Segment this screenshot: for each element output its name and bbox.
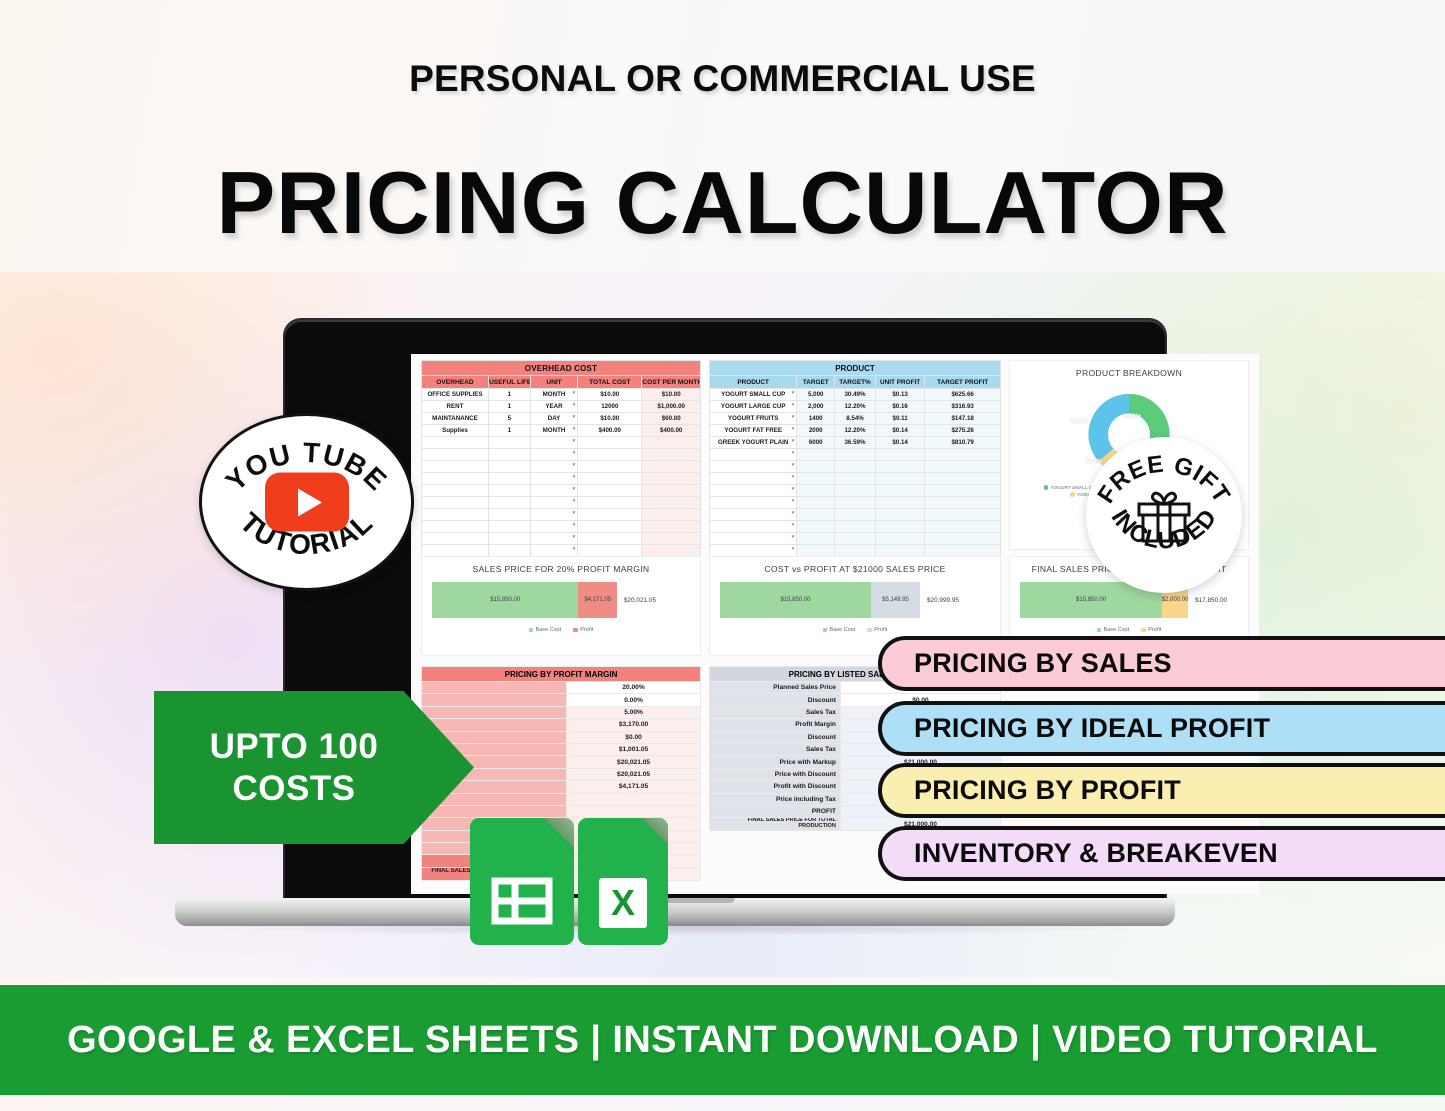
cell[interactable] xyxy=(578,533,642,545)
product-col-2: TARGET% xyxy=(835,376,876,389)
overhead-caption: OVERHEAD COST xyxy=(422,361,701,376)
legend-swatch-icon xyxy=(823,628,828,633)
cell[interactable] xyxy=(710,473,797,485)
row-value[interactable]: 0.00% xyxy=(567,694,701,706)
cell[interactable] xyxy=(642,533,701,545)
legend-swatch-icon xyxy=(573,628,578,633)
cell[interactable]: OFFICE SUPPLIES xyxy=(422,389,489,401)
cell[interactable]: 36.59% xyxy=(835,437,876,449)
row-value[interactable]: $3,170.00 xyxy=(567,719,701,731)
cell[interactable]: 2000 xyxy=(797,425,835,437)
youtube-tutorial-badge[interactable]: YOU TUBE TUTORIAL xyxy=(199,413,414,591)
cell[interactable] xyxy=(925,509,1001,521)
cell[interactable] xyxy=(835,473,876,485)
pill-pricing-by-ideal-profit[interactable]: PRICING BY IDEAL PROFIT xyxy=(878,701,1445,756)
table-row[interactable] xyxy=(422,497,701,509)
pill-3-label: INVENTORY & BREAKEVEN xyxy=(914,838,1278,869)
pill-pricing-by-sales[interactable]: PRICING BY SALES xyxy=(878,636,1445,691)
cell[interactable]: $1,000.00 xyxy=(642,401,701,413)
bar-segment[interactable]: $5,149.95 xyxy=(871,582,920,618)
overhead-col-0: OVERHEAD xyxy=(422,376,489,389)
product-col-1: TARGET xyxy=(797,376,835,389)
cell[interactable] xyxy=(710,449,797,461)
legend-label: Base Cost xyxy=(536,627,562,633)
cell[interactable]: MAINTANANCE xyxy=(422,413,489,425)
legend-label: Profit xyxy=(1148,627,1161,633)
cell[interactable]: $0.14 xyxy=(875,425,924,437)
page-title: PRICING CALCULATOR xyxy=(0,152,1445,254)
cell[interactable] xyxy=(797,473,835,485)
row-label: Price with Discount xyxy=(710,768,841,780)
table-row[interactable]: $1,001.05 xyxy=(422,743,701,755)
table-row[interactable] xyxy=(710,545,1001,557)
legend-item: Profit xyxy=(1141,627,1161,633)
cell[interactable] xyxy=(422,545,489,557)
cell[interactable] xyxy=(835,509,876,521)
table-row[interactable] xyxy=(422,473,701,485)
cell[interactable] xyxy=(797,533,835,545)
legend-label: Profit xyxy=(874,627,887,633)
cell[interactable] xyxy=(835,485,876,497)
bar-chart-2-area: $15,850.00$5,149.95$20,999.95 Base CostP… xyxy=(710,574,1000,633)
cell[interactable]: $0.16 xyxy=(875,401,924,413)
donut-chart-title: PRODUCT BREAKDOWN xyxy=(1010,361,1248,378)
bar-chart-3-bars: $15,850.00$2,000.00$17,850.00 xyxy=(1020,582,1238,618)
cell[interactable]: $316.93 xyxy=(925,401,1001,413)
cell[interactable] xyxy=(578,485,642,497)
table-row[interactable]: OFFICE SUPPLIES1MONTH$10.00$10.00 xyxy=(422,389,701,401)
table-row[interactable] xyxy=(422,521,701,533)
table-row[interactable] xyxy=(710,485,1001,497)
cell[interactable] xyxy=(642,497,701,509)
pill-pricing-by-profit[interactable]: PRICING BY PROFIT xyxy=(878,763,1445,818)
cell[interactable] xyxy=(835,449,876,461)
pill-0-label: PRICING BY SALES xyxy=(914,648,1172,679)
product-header-row: PRODUCT TARGET TARGET% UNIT PROFIT TARGE… xyxy=(710,376,1001,389)
cell[interactable] xyxy=(835,497,876,509)
cell[interactable]: 5,000 xyxy=(797,389,835,401)
donut-slice-label: 36.6% xyxy=(1070,418,1088,425)
bar-chart-1-title: SALES PRICE FOR 20% PROFIT MARGIN xyxy=(422,557,700,574)
cell[interactable]: $10.00 xyxy=(578,389,642,401)
bar-chart-1-bars: $15,850.00$4,171.05$20,021.05 xyxy=(432,582,690,618)
cell[interactable]: 12.20% xyxy=(835,401,876,413)
cell[interactable]: $60.00 xyxy=(642,413,701,425)
cell[interactable] xyxy=(422,509,489,521)
cell[interactable] xyxy=(422,533,489,545)
cell[interactable] xyxy=(488,449,530,461)
cell[interactable] xyxy=(835,545,876,557)
table-row[interactable] xyxy=(710,449,1001,461)
cell[interactable]: $400.00 xyxy=(642,425,701,437)
cell[interactable] xyxy=(875,533,924,545)
cell[interactable]: 1 xyxy=(488,401,530,413)
cell[interactable] xyxy=(530,485,577,497)
cell[interactable]: Supplies xyxy=(422,425,489,437)
bar-chart-2-title: COST vs PROFIT AT $21000 SALES PRICE xyxy=(710,557,1000,574)
gift-box-icon xyxy=(1132,486,1196,544)
cell[interactable] xyxy=(710,461,797,473)
row-value[interactable]: 20.00% xyxy=(567,682,701,694)
table-row[interactable] xyxy=(710,473,1001,485)
row-label: Discount xyxy=(710,731,841,743)
row-label: Price including Tax xyxy=(710,793,841,805)
cell[interactable]: $0.14 xyxy=(875,437,924,449)
pill-1-label: PRICING BY IDEAL PROFIT xyxy=(914,713,1270,744)
cell[interactable] xyxy=(710,545,797,557)
sheets-grid-glyph xyxy=(470,818,574,945)
table-row[interactable]: $4,171.05 xyxy=(422,781,701,793)
row-label: Sales Tax xyxy=(710,743,841,755)
legend-dot-icon xyxy=(1070,492,1075,497)
cell[interactable]: 1 xyxy=(488,389,530,401)
product-col-4: TARGET PROFIT xyxy=(925,376,1001,389)
row-label xyxy=(422,706,567,718)
cell[interactable]: $400.00 xyxy=(578,425,642,437)
cell[interactable]: YEAR xyxy=(530,401,577,413)
table-row[interactable]: YOGURT FAT FREE200012.20%$0.14$275.26 xyxy=(710,425,1001,437)
youtube-play-icon[interactable] xyxy=(265,473,349,532)
cell[interactable]: 6000 xyxy=(797,437,835,449)
table-row[interactable]: 20.00% xyxy=(422,682,701,694)
cell[interactable] xyxy=(710,533,797,545)
bar-chart-3-legend: Base CostProfit xyxy=(1020,618,1238,633)
cell[interactable]: $147.18 xyxy=(925,413,1001,425)
cell[interactable] xyxy=(642,449,701,461)
cell[interactable] xyxy=(797,497,835,509)
legend-item: Profit xyxy=(573,627,593,633)
cell[interactable]: 1400 xyxy=(797,413,835,425)
product-col-3: UNIT PROFIT xyxy=(875,376,924,389)
table-row[interactable]: $0.00 xyxy=(422,731,701,743)
bottom-banner-text: GOOGLE & EXCEL SHEETS | INSTANT DOWNLOAD… xyxy=(67,1019,1378,1062)
table-row[interactable] xyxy=(710,533,1001,545)
table-row[interactable]: GREEK YOGURT PLAIN600036.59%$0.14$810.79 xyxy=(710,437,1001,449)
profit-margin-caption: PRICING BY PROFIT MARGIN xyxy=(422,667,701,682)
cell[interactable] xyxy=(642,545,701,557)
cell[interactable]: YOGURT FAT FREE xyxy=(710,425,797,437)
cell[interactable] xyxy=(488,497,530,509)
cell[interactable] xyxy=(422,449,489,461)
bar-chart-1-area: $15,850.00$4,171.05$20,021.05 Base CostP… xyxy=(422,574,700,633)
cell[interactable] xyxy=(530,437,577,449)
cell[interactable] xyxy=(578,437,642,449)
cell[interactable] xyxy=(488,473,530,485)
table-row[interactable] xyxy=(710,461,1001,473)
cell[interactable] xyxy=(422,461,489,473)
cell[interactable] xyxy=(797,449,835,461)
cell[interactable] xyxy=(875,485,924,497)
cell[interactable] xyxy=(578,473,642,485)
overhead-col-2: UNIT xyxy=(530,376,577,389)
google-sheets-icon[interactable] xyxy=(470,818,574,945)
bar-total-label: $17,850.00 xyxy=(1195,597,1227,604)
legend-swatch-icon xyxy=(867,628,872,633)
cell[interactable] xyxy=(422,497,489,509)
bar-segment[interactable]: $15,850.00 xyxy=(720,582,871,618)
cell[interactable]: YOGURT SMALL CUP xyxy=(710,389,797,401)
cell[interactable]: $0.11 xyxy=(875,413,924,425)
cell[interactable] xyxy=(578,509,642,521)
cell[interactable] xyxy=(710,521,797,533)
cell[interactable] xyxy=(530,533,577,545)
table-row[interactable] xyxy=(422,485,701,497)
table-row[interactable] xyxy=(422,805,701,817)
overhead-header-row: OVERHEAD USEFUL LIFE UNIT TOTAL COST COS… xyxy=(422,376,701,389)
table-row[interactable] xyxy=(422,545,701,557)
page-subtitle: PERSONAL OR COMMERCIAL USE xyxy=(0,58,1445,100)
cell[interactable]: MONTH xyxy=(530,389,577,401)
bar-total-label: $20,021.05 xyxy=(624,597,656,604)
cell[interactable] xyxy=(642,521,701,533)
cell[interactable] xyxy=(530,521,577,533)
cell[interactable] xyxy=(422,485,489,497)
cell[interactable]: RENT xyxy=(422,401,489,413)
cell[interactable] xyxy=(578,449,642,461)
bar-segment[interactable]: $15,850.00 xyxy=(432,582,578,618)
row-value[interactable]: $4,171.05 xyxy=(567,781,701,793)
cell[interactable] xyxy=(875,449,924,461)
cell[interactable] xyxy=(530,473,577,485)
cell[interactable] xyxy=(797,461,835,473)
row-value[interactable]: 5.00% xyxy=(567,706,701,718)
cell[interactable] xyxy=(578,461,642,473)
cell[interactable] xyxy=(488,533,530,545)
row-label xyxy=(422,682,567,694)
cell[interactable] xyxy=(642,485,701,497)
row-label: Discount xyxy=(710,694,841,706)
cell[interactable]: 8.54% xyxy=(835,413,876,425)
cell[interactable] xyxy=(797,545,835,557)
cell[interactable] xyxy=(925,473,1001,485)
table-row[interactable]: $3,170.00 xyxy=(422,719,701,731)
legend-item: Base Cost xyxy=(1097,627,1130,633)
cell[interactable]: 12.20% xyxy=(835,425,876,437)
pill-inventory-breakeven[interactable]: INVENTORY & BREAKEVEN xyxy=(878,826,1445,881)
cell[interactable]: $10.00 xyxy=(642,389,701,401)
table-row[interactable] xyxy=(710,497,1001,509)
cell[interactable] xyxy=(710,485,797,497)
legend-dot-icon xyxy=(1044,485,1049,490)
cell[interactable] xyxy=(875,509,924,521)
row-label: Planned Sales Price xyxy=(710,682,841,694)
legend-label: Base Cost xyxy=(830,627,856,633)
row-label: Profit Margin xyxy=(710,719,841,731)
cell[interactable] xyxy=(488,461,530,473)
cell[interactable] xyxy=(710,509,797,521)
cell[interactable] xyxy=(797,521,835,533)
cell[interactable] xyxy=(530,497,577,509)
row-value[interactable] xyxy=(567,793,701,805)
table-row[interactable] xyxy=(710,509,1001,521)
legend-item: Base Cost xyxy=(529,627,562,633)
bottom-banner: GOOGLE & EXCEL SHEETS | INSTANT DOWNLOAD… xyxy=(0,985,1445,1095)
cell[interactable] xyxy=(422,437,489,449)
cell[interactable] xyxy=(488,545,530,557)
row-label: Price with Markup xyxy=(710,756,841,768)
legend-label: Base Cost xyxy=(1104,627,1130,633)
cell[interactable] xyxy=(835,533,876,545)
cell[interactable] xyxy=(578,545,642,557)
cell[interactable] xyxy=(835,521,876,533)
cell[interactable] xyxy=(422,521,489,533)
cell[interactable] xyxy=(422,473,489,485)
row-label: PROFIT xyxy=(710,805,841,817)
cell[interactable]: $810.79 xyxy=(925,437,1001,449)
bar-total-label: $20,999.95 xyxy=(927,597,959,604)
cell[interactable] xyxy=(578,521,642,533)
cell[interactable] xyxy=(530,545,577,557)
row-value[interactable] xyxy=(567,805,701,817)
bar-chart-panel-1: SALES PRICE FOR 20% PROFIT MARGIN $15,85… xyxy=(421,556,701,656)
row-value[interactable]: $0.00 xyxy=(567,731,701,743)
table-row[interactable] xyxy=(422,509,701,521)
cell[interactable] xyxy=(488,437,530,449)
cell[interactable] xyxy=(835,461,876,473)
cell[interactable] xyxy=(925,449,1001,461)
table-row[interactable]: Supplies1MONTH$400.00$400.00 xyxy=(422,425,701,437)
cell[interactable]: YOGURT FRUITS xyxy=(710,413,797,425)
cell[interactable]: YOGURT LARGE CUP xyxy=(710,401,797,413)
bar-chart-2-bars: $15,850.00$5,149.95$20,999.95 xyxy=(720,582,990,618)
cell[interactable] xyxy=(875,473,924,485)
product-caption: PRODUCT xyxy=(710,361,1001,376)
cell[interactable]: $10.00 xyxy=(578,413,642,425)
cell[interactable]: $275.26 xyxy=(925,425,1001,437)
row-value[interactable]: $20,021.05 xyxy=(567,768,701,780)
table-row[interactable]: RENT1YEAR12000$1,000.00 xyxy=(422,401,701,413)
arrow-banner-line-2: COSTS xyxy=(232,768,355,809)
legend-item: Base Cost xyxy=(823,627,856,633)
cell[interactable] xyxy=(710,497,797,509)
overhead-col-4: COST PER MONTH xyxy=(642,376,701,389)
legend-item: Profit xyxy=(867,627,887,633)
table-row[interactable] xyxy=(422,793,701,805)
table-row[interactable]: YOGURT FRUITS14008.54%$0.11$147.18 xyxy=(710,413,1001,425)
free-gift-badge[interactable]: FREE GIFT INCLUDED xyxy=(1086,437,1242,593)
cell[interactable] xyxy=(925,533,1001,545)
cell[interactable]: MONTH xyxy=(530,425,577,437)
bar-chart-2-legend: Base CostProfit xyxy=(720,618,990,633)
cell[interactable] xyxy=(488,521,530,533)
cell[interactable] xyxy=(875,521,924,533)
pill-2-label: PRICING BY PROFIT xyxy=(914,775,1181,806)
table-row[interactable] xyxy=(422,461,701,473)
donut-slice-label: 30.5% xyxy=(1124,413,1142,420)
bar-chart-1-legend: Base CostProfit xyxy=(432,618,690,633)
table-row[interactable] xyxy=(422,437,701,449)
cell[interactable]: 30.49% xyxy=(835,389,876,401)
legend-swatch-icon xyxy=(529,628,534,633)
cell[interactable] xyxy=(797,509,835,521)
cell[interactable] xyxy=(642,461,701,473)
cell[interactable] xyxy=(578,497,642,509)
cell[interactable] xyxy=(530,461,577,473)
cell[interactable] xyxy=(875,461,924,473)
row-label xyxy=(422,719,567,731)
overhead-col-1: USEFUL LIFE xyxy=(488,376,530,389)
legend-swatch-icon xyxy=(1141,628,1146,633)
table-row[interactable]: YOGURT SMALL CUP5,00030.49%$0.13$625.66 xyxy=(710,389,1001,401)
overhead-col-3: TOTAL COST xyxy=(578,376,642,389)
product-col-0: PRODUCT xyxy=(710,376,797,389)
cell[interactable]: 1 xyxy=(488,425,530,437)
table-row[interactable] xyxy=(422,449,701,461)
legend-label: Profit xyxy=(580,627,593,633)
cell[interactable] xyxy=(488,509,530,521)
cell[interactable] xyxy=(642,473,701,485)
laptop-shadow xyxy=(215,920,1135,936)
legend-swatch-icon xyxy=(1097,628,1102,633)
row-label: Profit with Discount xyxy=(710,781,841,793)
cell[interactable]: $625.66 xyxy=(925,389,1001,401)
table-row[interactable]: 5.00% xyxy=(422,706,701,718)
bar-segment[interactable]: $4,171.05 xyxy=(578,582,617,618)
cell[interactable]: 12000 xyxy=(578,401,642,413)
row-label: FINAL SALES PRICE FOR TOTAL PRODUCTION xyxy=(710,818,841,831)
cell[interactable] xyxy=(488,485,530,497)
table-row[interactable]: 0.00% xyxy=(422,694,701,706)
row-label xyxy=(422,805,567,817)
cell[interactable] xyxy=(797,485,835,497)
cell[interactable] xyxy=(925,461,1001,473)
cell[interactable]: $0.13 xyxy=(875,389,924,401)
cell[interactable]: DAY xyxy=(530,413,577,425)
arrow-banner-line-1: UPTO 100 xyxy=(210,726,379,767)
table-row[interactable]: MAINTANANCE5DAY$10.00$60.00 xyxy=(422,413,701,425)
row-value[interactable]: $20,021.05 xyxy=(567,756,701,768)
cell[interactable] xyxy=(530,449,577,461)
cell[interactable] xyxy=(875,497,924,509)
cell[interactable] xyxy=(642,437,701,449)
row-label xyxy=(422,694,567,706)
table-row[interactable] xyxy=(710,521,1001,533)
donut-slice-label: 12.2% xyxy=(1085,458,1103,465)
cell[interactable] xyxy=(925,497,1001,509)
row-label: Sales Tax xyxy=(710,706,841,718)
cell[interactable]: GREEK YOGURT PLAIN xyxy=(710,437,797,449)
row-value[interactable]: $1,001.05 xyxy=(567,743,701,755)
cell[interactable] xyxy=(925,485,1001,497)
excel-icon[interactable]: X xyxy=(578,818,668,945)
table-row[interactable] xyxy=(422,533,701,545)
cell[interactable]: 2,000 xyxy=(797,401,835,413)
excel-x-glyph: X xyxy=(599,878,647,928)
cell[interactable] xyxy=(925,545,1001,557)
cell[interactable] xyxy=(642,509,701,521)
cell[interactable]: 5 xyxy=(488,413,530,425)
cell[interactable] xyxy=(875,545,924,557)
table-row[interactable]: YOGURT LARGE CUP2,00012.20%$0.16$316.93 xyxy=(710,401,1001,413)
cell[interactable] xyxy=(925,521,1001,533)
cell[interactable] xyxy=(530,509,577,521)
